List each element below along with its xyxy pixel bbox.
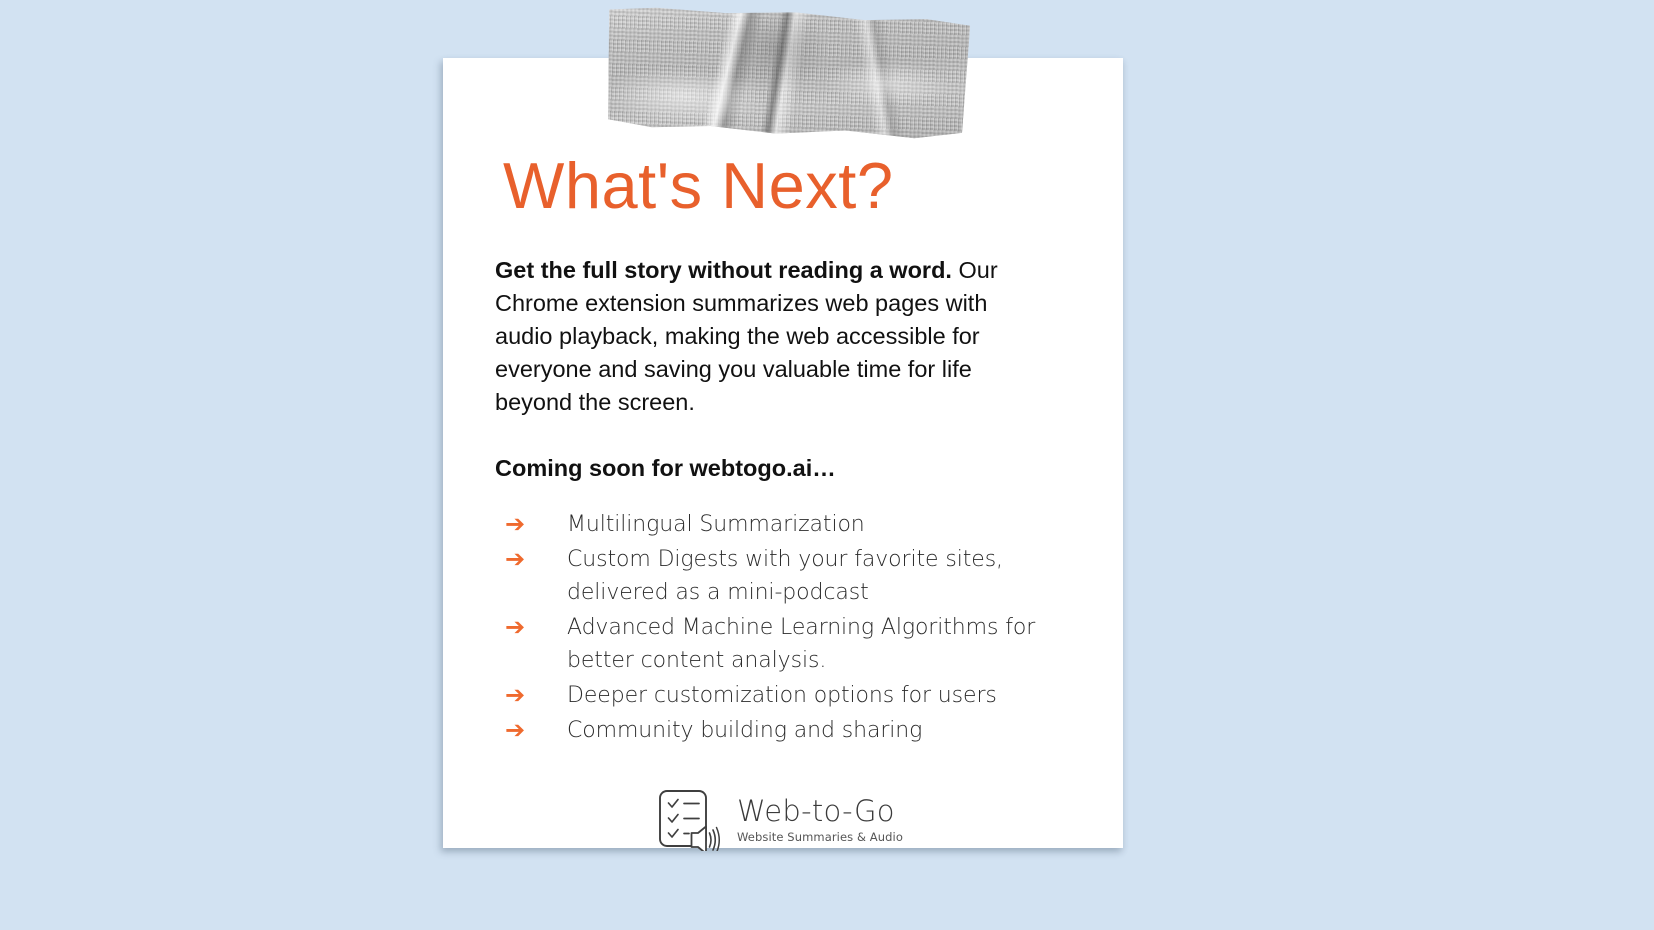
arrow-right-icon: ➔ (505, 679, 567, 712)
checklist-audio-icon (657, 789, 723, 851)
page-title: What's Next? (503, 153, 1065, 218)
arrow-right-icon: ➔ (505, 714, 567, 747)
arrow-right-icon: ➔ (505, 508, 567, 541)
feature-list: ➔ Multilingual Summarization ➔ Custom Di… (505, 508, 1065, 747)
list-item-label: Deeper customization options for users (567, 679, 997, 712)
card-content: What's Next? Get the full story without … (443, 58, 1123, 848)
list-item-label: Custom Digests with your favorite sites,… (567, 543, 1037, 609)
content-card: What's Next? Get the full story without … (443, 58, 1123, 848)
brand-logo: Web-to-Go Website Summaries & Audio (495, 789, 1065, 851)
logo-name: Web-to-Go (737, 796, 903, 826)
coming-soon-heading: Coming soon for webtogo.ai… (495, 455, 1065, 482)
logo-text-block: Web-to-Go Website Summaries & Audio (737, 796, 903, 843)
list-item: ➔ Multilingual Summarization (505, 508, 1065, 541)
list-item: ➔ Custom Digests with your favorite site… (505, 543, 1065, 609)
list-item-label: Community building and sharing (567, 714, 922, 747)
intro-paragraph: Get the full story without reading a wor… (495, 254, 1025, 419)
list-item-label: Advanced Machine Learning Algorithms for… (567, 611, 1037, 677)
list-item-label: Multilingual Summarization (567, 508, 865, 541)
intro-lead-text: Get the full story without reading a wor… (495, 257, 952, 283)
list-item: ➔ Advanced Machine Learning Algorithms f… (505, 611, 1065, 677)
checklist-speaker-icon (657, 789, 723, 851)
list-item: ➔ Deeper customization options for users (505, 679, 1065, 712)
arrow-right-icon: ➔ (505, 611, 567, 644)
arrow-right-icon: ➔ (505, 543, 567, 576)
list-item: ➔ Community building and sharing (505, 714, 1065, 747)
logo-tagline: Website Summaries & Audio (737, 830, 903, 844)
